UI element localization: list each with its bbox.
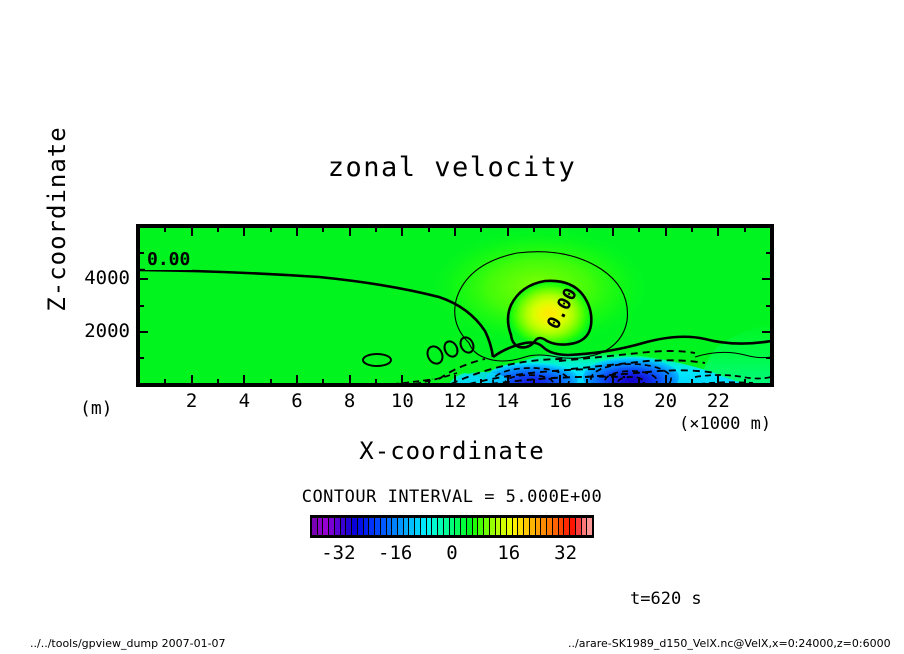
- x-tick-minor: [164, 379, 166, 384]
- y-tick-minor: [766, 252, 771, 254]
- x-tick-minor: [164, 227, 166, 232]
- contour-plot-canvas: [139, 227, 771, 384]
- colorbar-tick-label: 16: [479, 542, 539, 564]
- x-tick-label: 8: [325, 390, 375, 412]
- x-tick-major: [454, 375, 456, 384]
- x-tick-minor: [480, 227, 482, 232]
- y-tick-minor: [766, 305, 771, 307]
- x-tick-major: [401, 375, 403, 384]
- colorbar[interactable]: [310, 515, 594, 538]
- x-tick-major: [559, 375, 561, 384]
- x-tick-major: [665, 375, 667, 384]
- x-tick-label: 22: [693, 390, 743, 412]
- x-tick-major: [401, 227, 403, 236]
- x-tick-minor: [533, 379, 535, 384]
- contour-interval-label: CONTOUR INTERVAL = 5.000E+00: [0, 487, 904, 507]
- footer-left-command: ../../tools/gpview_dump 2007-01-07: [30, 637, 226, 650]
- x-tick-minor: [691, 227, 693, 232]
- colorbar-tick-label: 0: [422, 542, 482, 564]
- y-tick-major: [139, 331, 148, 333]
- x-tick-minor: [586, 227, 588, 232]
- x-tick-major: [191, 227, 193, 236]
- x-tick-label: 2: [167, 390, 217, 412]
- x-axis-title: X-coordinate: [0, 437, 904, 465]
- y-axis-unit: (m): [80, 398, 113, 419]
- x-tick-minor: [691, 379, 693, 384]
- x-axis-unit: (×1000 m): [679, 414, 771, 434]
- plot-page: zonal velocity: [0, 0, 904, 654]
- x-tick-minor: [322, 379, 324, 384]
- x-tick-label: 16: [535, 390, 585, 412]
- colorbar-tick-label: 32: [536, 542, 596, 564]
- x-tick-major: [349, 227, 351, 236]
- x-tick-major: [507, 227, 509, 236]
- x-tick-major: [612, 375, 614, 384]
- x-tick-major: [717, 375, 719, 384]
- x-tick-minor: [638, 379, 640, 384]
- contour-plot-frame: 0.00 0.00: [136, 224, 774, 387]
- y-tick-major: [762, 278, 771, 280]
- x-tick-major: [243, 375, 245, 384]
- colorbar-cell: [587, 518, 592, 535]
- y-tick-major: [762, 331, 771, 333]
- x-tick-minor: [480, 379, 482, 384]
- x-tick-major: [296, 227, 298, 236]
- colorbar-tick-labels: -32-1601632: [310, 542, 594, 566]
- contour-label-zero-upper: 0.00: [145, 249, 192, 270]
- x-tick-label: 18: [588, 390, 638, 412]
- x-tick-minor: [217, 227, 219, 232]
- y-tick-label: 2000: [60, 320, 130, 342]
- x-tick-minor: [533, 227, 535, 232]
- x-tick-major: [191, 375, 193, 384]
- x-tick-major: [243, 227, 245, 236]
- x-tick-major: [349, 375, 351, 384]
- x-tick-minor: [638, 227, 640, 232]
- x-tick-label: 4: [219, 390, 269, 412]
- page-title: zonal velocity: [0, 152, 904, 183]
- x-tick-major: [665, 227, 667, 236]
- y-tick-minor: [139, 357, 144, 359]
- time-stamp: t=620 s: [630, 589, 702, 609]
- y-axis-title: Z-coordinate: [43, 119, 71, 319]
- x-tick-minor: [428, 227, 430, 232]
- x-tick-major: [296, 375, 298, 384]
- x-tick-minor: [375, 227, 377, 232]
- colorbar-tick-label: -16: [365, 542, 425, 564]
- x-tick-major: [559, 227, 561, 236]
- y-tick-major: [139, 278, 148, 280]
- x-tick-minor: [270, 227, 272, 232]
- x-tick-minor: [428, 379, 430, 384]
- x-tick-minor: [744, 379, 746, 384]
- x-tick-major: [717, 227, 719, 236]
- x-tick-label: 12: [430, 390, 480, 412]
- x-tick-major: [507, 375, 509, 384]
- x-tick-label: 20: [641, 390, 691, 412]
- colorbar-tick-label: -32: [308, 542, 368, 564]
- x-tick-major: [454, 227, 456, 236]
- x-tick-minor: [375, 379, 377, 384]
- y-tick-minor: [766, 357, 771, 359]
- x-tick-minor: [744, 227, 746, 232]
- x-tick-label: 10: [377, 390, 427, 412]
- x-tick-label: 14: [483, 390, 533, 412]
- x-tick-minor: [217, 379, 219, 384]
- x-tick-minor: [322, 227, 324, 232]
- x-tick-minor: [586, 379, 588, 384]
- colorbar-cells: [312, 518, 592, 535]
- x-tick-minor: [270, 379, 272, 384]
- x-tick-major: [612, 227, 614, 236]
- y-tick-minor: [139, 305, 144, 307]
- x-tick-label: 6: [272, 390, 322, 412]
- y-tick-minor: [139, 252, 144, 254]
- footer-right-source: ../arare-SK1989_d150_VelX.nc@VelX,x=0:24…: [568, 637, 891, 650]
